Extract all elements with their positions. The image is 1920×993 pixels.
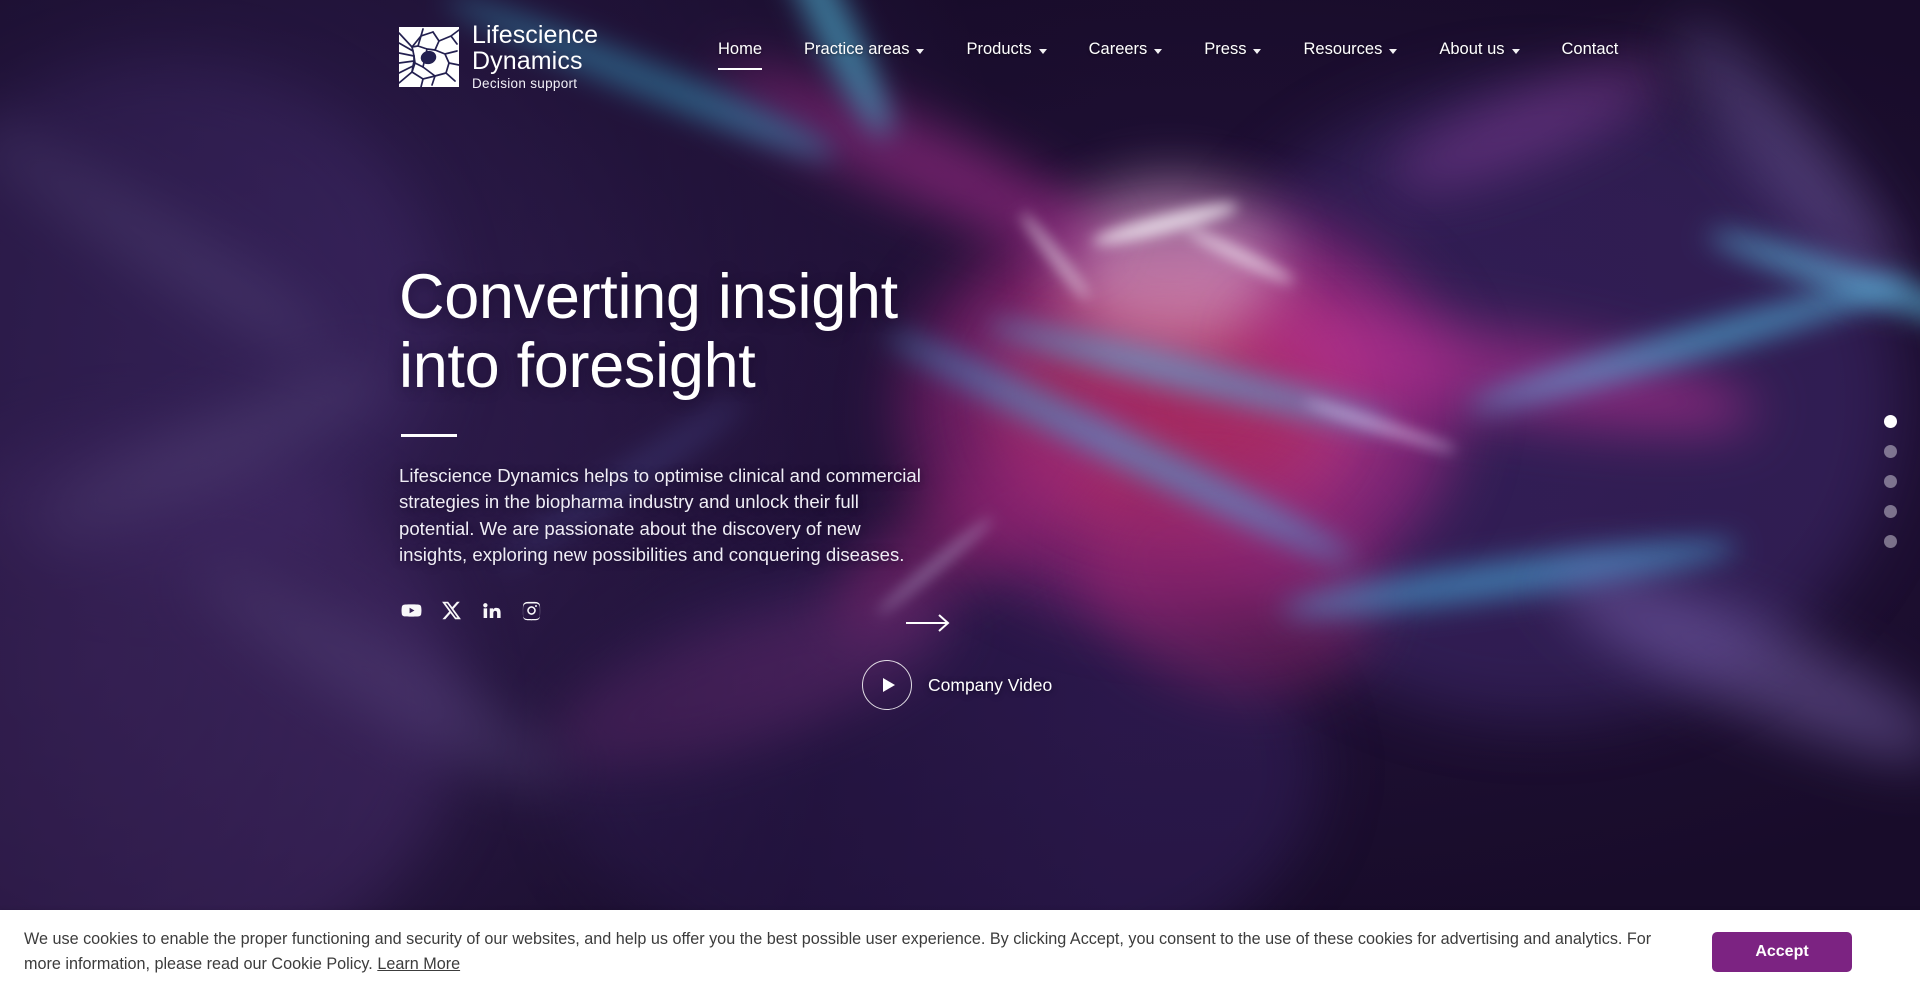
slider-dot-5[interactable] [1884, 535, 1897, 548]
nav-item-practice-areas[interactable]: Practice areas [783, 40, 945, 59]
nav-item-products[interactable]: Products [945, 40, 1067, 59]
learn-more-link[interactable]: Learn More [377, 955, 460, 973]
nav-item-contact[interactable]: Contact [1541, 40, 1640, 59]
linkedin-icon[interactable] [481, 600, 502, 621]
logo-line-2: Dynamics [472, 49, 598, 74]
slider-dot-1[interactable] [1884, 415, 1897, 428]
company-video-label: Company Video [928, 675, 1052, 696]
instagram-icon[interactable] [521, 600, 542, 621]
nav-label: Products [966, 40, 1031, 59]
slider-pagination [1884, 415, 1897, 548]
nav-label: Resources [1303, 40, 1382, 59]
chevron-down-icon [916, 49, 924, 54]
social-links [401, 600, 959, 621]
logo-tagline: Decision support [472, 77, 598, 91]
slider-dot-3[interactable] [1884, 475, 1897, 488]
nav-label: Home [718, 40, 762, 59]
cookie-message-wrap: We use cookies to enable the proper func… [24, 927, 1684, 976]
hero-content: Converting insight into foresight Lifesc… [399, 263, 959, 621]
chevron-down-icon [1512, 49, 1520, 54]
nav-label: Practice areas [804, 40, 909, 59]
chevron-down-icon [1154, 49, 1162, 54]
arrow-right-icon[interactable] [906, 612, 952, 634]
site-header: Lifescience Dynamics Decision support Ho… [0, 0, 1920, 104]
neuron-cell-logo-icon [399, 27, 459, 87]
title-divider [401, 434, 457, 436]
main-navigation: Home Practice areas Products Careers Pre… [697, 40, 1639, 59]
nav-label: Careers [1089, 40, 1148, 59]
cookie-message: We use cookies to enable the proper func… [24, 930, 1651, 973]
hero-title-line-1: Converting insight [399, 262, 898, 332]
hero-paragraph: Lifescience Dynamics helps to optimise c… [399, 463, 933, 569]
nav-label: Contact [1562, 40, 1619, 59]
x-twitter-icon[interactable] [441, 600, 462, 621]
nav-item-resources[interactable]: Resources [1282, 40, 1418, 59]
site-logo[interactable]: Lifescience Dynamics Decision support [399, 23, 598, 91]
nav-item-about-us[interactable]: About us [1418, 40, 1540, 59]
logo-line-1: Lifescience [472, 23, 598, 48]
slider-dot-4[interactable] [1884, 505, 1897, 518]
nav-item-careers[interactable]: Careers [1068, 40, 1184, 59]
neuron-background-image [0, 0, 1920, 910]
chevron-down-icon [1389, 49, 1397, 54]
cookie-consent-banner: We use cookies to enable the proper func… [0, 910, 1920, 993]
page-title: Converting insight into foresight [399, 263, 959, 400]
company-video-button[interactable]: Company Video [862, 660, 1052, 710]
hero-section: Lifescience Dynamics Decision support Ho… [0, 0, 1920, 910]
youtube-icon[interactable] [401, 600, 422, 621]
play-circle-icon [862, 660, 912, 710]
nav-label: Press [1204, 40, 1246, 59]
accept-button[interactable]: Accept [1712, 932, 1852, 972]
nav-label: About us [1439, 40, 1504, 59]
logo-wordmark: Lifescience Dynamics Decision support [472, 23, 598, 91]
nav-item-home[interactable]: Home [697, 40, 783, 59]
slider-dot-2[interactable] [1884, 445, 1897, 458]
chevron-down-icon [1253, 49, 1261, 54]
chevron-down-icon [1039, 49, 1047, 54]
hero-title-line-2: into foresight [399, 331, 756, 401]
nav-item-press[interactable]: Press [1183, 40, 1282, 59]
